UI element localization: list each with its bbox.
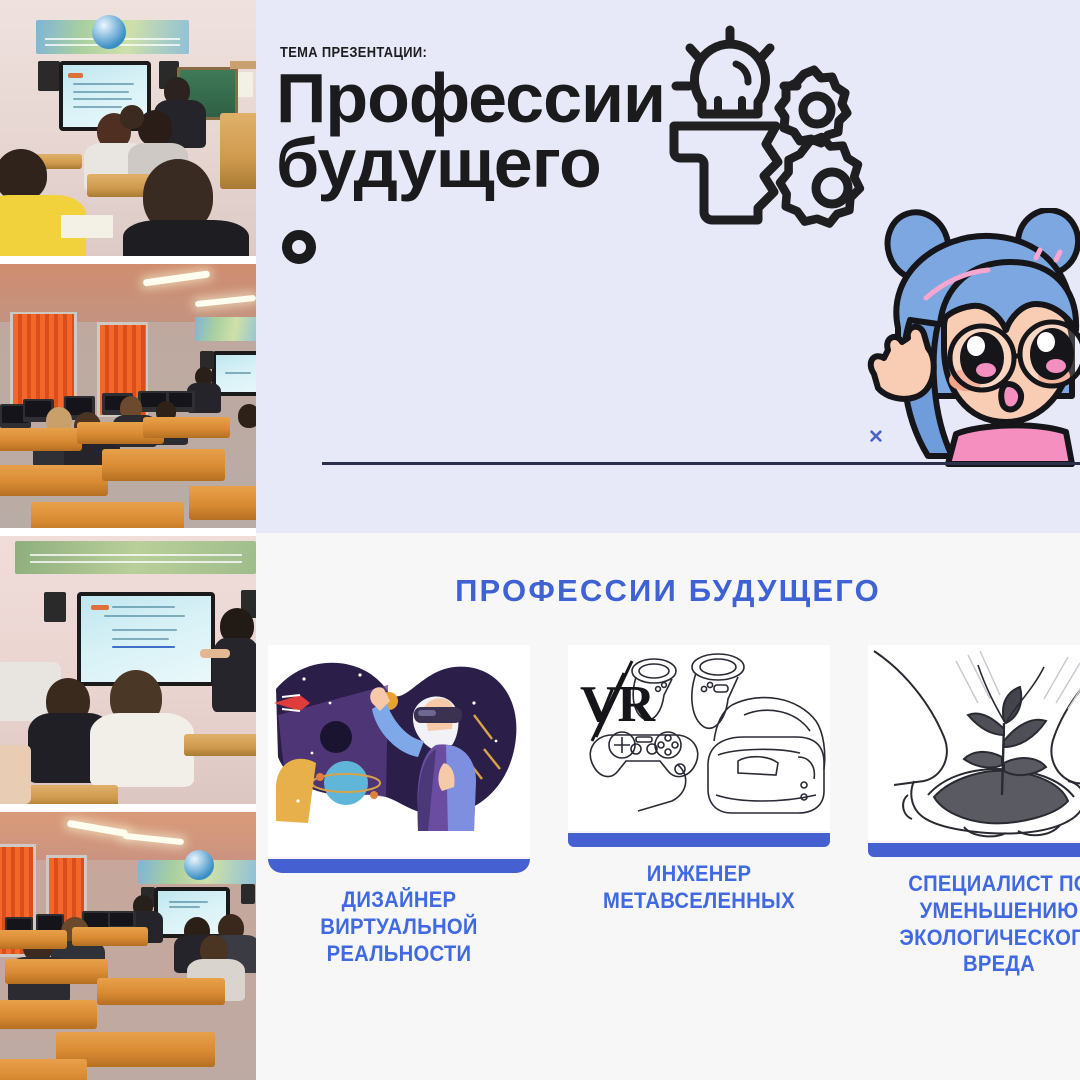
card-metaverse-engineer: VR ИНЖЕНЕР МЕТАВСЕЛЕННЫХ	[568, 645, 830, 978]
x-decoration: ✕	[868, 426, 884, 449]
card2-label-line2: МЕТАВСЕЛЕННЫХ	[603, 888, 795, 913]
profession-cards-row: ДИЗАЙНЕР ВИРТУАЛЬНОЙ РЕАЛЬНОСТИ	[268, 645, 1080, 978]
slides-column: ТЕМА ПРЕЗЕНТАЦИИ: Профессии будущего	[256, 0, 1080, 1080]
card-accent-bar	[868, 843, 1080, 857]
card-label-metaverse-engineer: ИНЖЕНЕР МЕТАВСЕЛЕННЫХ	[578, 861, 819, 915]
card-accent-bar	[268, 859, 530, 873]
card3-label-line1: СПЕЦИАЛИСТ ПО УМЕНЬШЕНИЮ	[908, 871, 1080, 923]
card-label-vr-designer: ДИЗАЙНЕР ВИРТУАЛЬНОЙ РЕАЛЬНОСТИ	[278, 887, 519, 967]
card1-label-line1: ДИЗАЙНЕР ВИРТУАЛЬНОЙ	[320, 887, 477, 939]
ring-dot-decoration	[282, 230, 316, 264]
card-accent-bar	[568, 833, 830, 847]
card-vr-designer: ДИЗАЙНЕР ВИРТУАЛЬНОЙ РЕАЛЬНОСТИ	[268, 645, 530, 978]
photo-computer-lab-orange-curtains	[0, 264, 256, 528]
card-eco-specialist: СПЕЦИАЛИСТ ПО УМЕНЬШЕНИЮ ЭКОЛОГИЧЕСКОГО …	[868, 645, 1080, 978]
vr-space-illustration	[268, 645, 530, 857]
slide2-title: ПРОФЕССИИ БУДУЩЕГО	[256, 573, 1080, 609]
slide-professions-cards: ПРОФЕССИИ БУДУЩЕГО	[256, 533, 1080, 1080]
card-label-eco-specialist: СПЕЦИАЛИСТ ПО УМЕНЬШЕНИЮ ЭКОЛОГИЧЕСКОГО …	[878, 871, 1080, 978]
hands-holding-plant-sketch	[868, 645, 1080, 841]
photo-collage-column	[0, 0, 256, 1080]
photo-lecture-room-wide-shot	[0, 812, 256, 1080]
slide-title-professions-of-the-future: ТЕМА ПРЕЗЕНТАЦИИ: Профессии будущего	[256, 0, 1080, 533]
card1-label-line2: РЕАЛЬНОСТИ	[327, 941, 472, 966]
head-lightbulb-gears-icon	[654, 22, 874, 237]
photo-classroom-presentation-with-banner	[0, 0, 256, 256]
vr-headset-sketch: VR	[568, 645, 830, 831]
card3-label-line2: ЭКОЛОГИЧЕСКОГО ВРЕДА	[899, 925, 1080, 977]
horizontal-rule	[322, 462, 1080, 465]
screenshot-root: ТЕМА ПРЕЗЕНТАЦИИ: Профессии будущего	[0, 0, 1080, 1080]
slide1-title-line2: будущего	[276, 131, 665, 196]
slide1-title: Профессии будущего	[276, 66, 665, 196]
card2-label-line1: ИНЖЕНЕР	[647, 861, 752, 886]
photo-students-at-interactive-board	[0, 536, 256, 804]
